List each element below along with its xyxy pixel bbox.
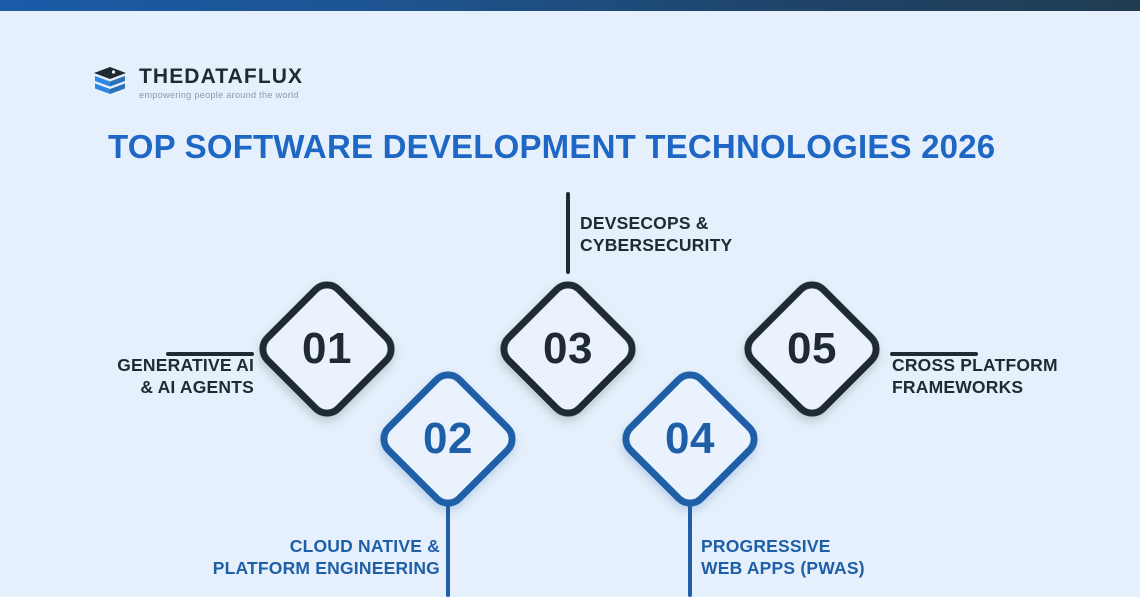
step-label-04-line1: PROGRESSIVE: [701, 536, 865, 558]
step-label-03-line1: DEVSECOPS &: [580, 213, 732, 235]
step-label-04-line2: WEB APPS (PWAS): [701, 558, 865, 580]
step-label-03-line2: CYBERSECURITY: [580, 235, 732, 257]
step-label-01-line1: GENERATIVE AI: [24, 355, 254, 377]
step-label-01-line2: & AI AGENTS: [24, 377, 254, 399]
step-label-05: CROSS PLATFORM FRAMEWORKS: [892, 355, 1058, 398]
infographic-canvas: THEDATAFLUX empowering people around the…: [0, 0, 1140, 597]
step-label-02: CLOUD NATIVE & PLATFORM ENGINEERING: [110, 536, 440, 579]
step-label-05-line1: CROSS PLATFORM: [892, 355, 1058, 377]
brand-name: THEDATAFLUX: [139, 66, 303, 88]
step-label-02-line1: CLOUD NATIVE &: [110, 536, 440, 558]
brand-tagline: empowering people around the world: [139, 91, 303, 100]
top-accent-bar: [0, 0, 1140, 11]
brand-logo: THEDATAFLUX empowering people around the…: [90, 63, 303, 103]
step-diamond-05[interactable]: 05: [739, 276, 885, 422]
stacked-layers-icon: [90, 63, 130, 103]
step-label-04: PROGRESSIVE WEB APPS (PWAS): [701, 536, 865, 579]
step-label-05-line2: FRAMEWORKS: [892, 377, 1058, 399]
connector-line-step-03: [566, 192, 570, 274]
step-label-03: DEVSECOPS & CYBERSECURITY: [580, 213, 732, 256]
step-label-01: GENERATIVE AI & AI AGENTS: [24, 355, 254, 398]
page-title: TOP SOFTWARE DEVELOPMENT TECHNOLOGIES 20…: [108, 128, 995, 166]
step-label-02-line2: PLATFORM ENGINEERING: [110, 558, 440, 580]
step-number-05: 05: [739, 276, 885, 422]
